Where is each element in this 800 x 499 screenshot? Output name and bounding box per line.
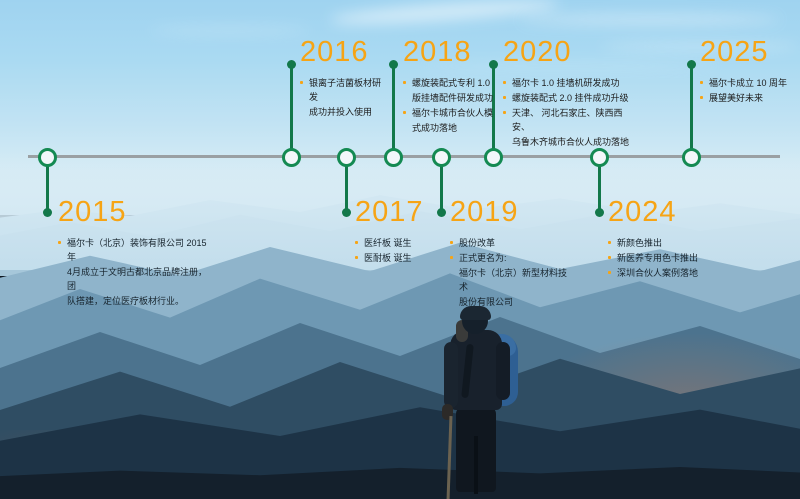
timeline-node-2020[interactable]: [484, 148, 503, 167]
cloud: [520, 14, 780, 25]
bullet-line: 福尔卡城市合伙人模: [403, 106, 495, 120]
milestone-bullets: 银离子洁菌板材研发 成功并投入使用: [300, 76, 388, 119]
bullet-line: 天津、 河北石家庄、陕西西安、: [503, 106, 633, 134]
milestone-year: 2025: [700, 38, 796, 67]
bullet-line: 福尔卡（北京）新型材料技术: [450, 266, 570, 294]
milestone-2018[interactable]: 2018 螺旋装配式专利 1.0 版挂墙配件研发成功 福尔卡城市合伙人模 式成功…: [403, 38, 495, 136]
timeline-infographic: 2016 银离子洁菌板材研发 成功并投入使用 2018 螺旋装配式专利 1.0 …: [0, 0, 800, 499]
bullet-line: 福尔卡成立 10 周年: [700, 76, 796, 90]
bullet-line: 福尔卡 1.0 挂墙机研发成功: [503, 76, 633, 90]
milestone-2017[interactable]: 2017 医纤板 诞生 医耐板 诞生: [355, 198, 435, 266]
milestone-bullets: 福尔卡 1.0 挂墙机研发成功 螺旋装配式 2.0 挂件成功升级 天津、 河北石…: [503, 76, 633, 149]
milestone-2025[interactable]: 2025 福尔卡成立 10 周年 展望美好未来: [700, 38, 796, 106]
timeline-node-2016[interactable]: [282, 148, 301, 167]
milestone-year: 2018: [403, 38, 495, 67]
hiker-figure: [420, 308, 550, 499]
connector-stem: [598, 164, 601, 212]
milestone-2015[interactable]: 2015 福尔卡（北京）装饰有限公司 2015 年 4月成立于文明古都北京品牌注…: [58, 198, 208, 309]
bullet-line: 股份改革: [450, 236, 570, 250]
bullet-line: 展望美好未来: [700, 91, 796, 105]
milestone-2024[interactable]: 2024 新颜色推出 新医养专用色卡推出 深圳合伙人案例落地: [608, 198, 728, 281]
connector-stem: [690, 64, 693, 156]
timeline-node-2019[interactable]: [432, 148, 451, 167]
bullet-line: 福尔卡（北京）装饰有限公司 2015 年: [58, 236, 208, 264]
bullet-line: 4月成立于文明古都北京品牌注册，团: [58, 265, 208, 293]
bullet-line: 乌鲁木齐城市合伙人成功落地: [503, 135, 633, 149]
milestone-year: 2024: [608, 198, 728, 227]
milestone-bullets: 福尔卡（北京）装饰有限公司 2015 年 4月成立于文明古都北京品牌注册，团 队…: [58, 236, 208, 308]
connector-stem: [440, 164, 443, 212]
bullet-line: 队搭建，定位医疗板材行业。: [58, 294, 208, 308]
milestone-year: 2017: [355, 198, 435, 227]
connector-dot: [287, 60, 296, 69]
timeline-node-2018[interactable]: [384, 148, 403, 167]
milestone-2019[interactable]: 2019 股份改革 正式更名为: 福尔卡（北京）新型材料技术 股份有限公司: [450, 198, 570, 310]
connector-stem: [392, 64, 395, 156]
milestone-bullets: 新颜色推出 新医养专用色卡推出 深圳合伙人案例落地: [608, 236, 728, 280]
bullet-line: 深圳合伙人案例落地: [608, 266, 728, 280]
milestone-bullets: 螺旋装配式专利 1.0 版挂墙配件研发成功 福尔卡城市合伙人模 式成功落地: [403, 76, 495, 135]
connector-stem: [290, 64, 293, 156]
timeline-node-2025[interactable]: [682, 148, 701, 167]
bullet-line: 新医养专用色卡推出: [608, 251, 728, 265]
milestone-2016[interactable]: 2016 银离子洁菌板材研发 成功并投入使用: [300, 38, 388, 120]
bullet-line: 螺旋装配式专利 1.0: [403, 76, 495, 90]
timeline-node-2015[interactable]: [38, 148, 57, 167]
milestone-year: 2020: [503, 38, 633, 67]
milestone-bullets: 股份改革 正式更名为: 福尔卡（北京）新型材料技术 股份有限公司: [450, 236, 570, 309]
milestone-bullets: 福尔卡成立 10 周年 展望美好未来: [700, 76, 796, 105]
bullet-line: 银离子洁菌板材研发: [300, 76, 388, 104]
timeline-node-2024[interactable]: [590, 148, 609, 167]
bullet-line: 新颜色推出: [608, 236, 728, 250]
milestone-2020[interactable]: 2020 福尔卡 1.0 挂墙机研发成功 螺旋装配式 2.0 挂件成功升级 天津…: [503, 38, 633, 150]
bullet-line: 螺旋装配式 2.0 挂件成功升级: [503, 91, 633, 105]
connector-dot: [342, 208, 351, 217]
bullet-line: 正式更名为:: [450, 251, 570, 265]
bullet-line: 医耐板 诞生: [355, 251, 435, 265]
timeline-axis: [28, 155, 780, 158]
bullet-line: 成功并投入使用: [300, 105, 388, 119]
milestone-year: 2016: [300, 38, 388, 67]
connector-dot: [437, 208, 446, 217]
connector-stem: [345, 164, 348, 212]
connector-dot: [389, 60, 398, 69]
bullet-line: 医纤板 诞生: [355, 236, 435, 250]
timeline-node-2017[interactable]: [337, 148, 356, 167]
connector-dot: [687, 60, 696, 69]
milestone-bullets: 医纤板 诞生 医耐板 诞生: [355, 236, 435, 265]
cloud: [150, 26, 310, 35]
connector-stem: [46, 164, 49, 212]
bullet-line: 式成功落地: [403, 121, 495, 135]
bullet-line: 股份有限公司: [450, 295, 570, 309]
connector-dot: [43, 208, 52, 217]
milestone-year: 2015: [58, 198, 208, 227]
milestone-year: 2019: [450, 198, 570, 227]
bullet-line: 版挂墙配件研发成功: [403, 91, 495, 105]
connector-dot: [595, 208, 604, 217]
